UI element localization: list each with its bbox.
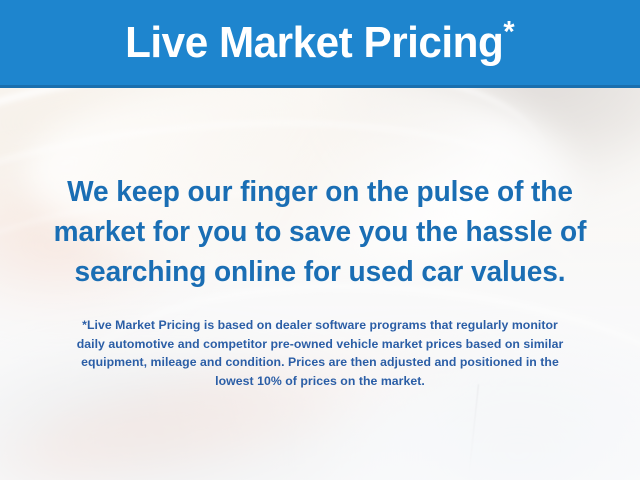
headline-text: We keep our finger on the pulse of the m…	[5, 172, 635, 292]
headline-line-3: searching online for used car values.	[5, 252, 635, 292]
page-title-asterisk: *	[504, 15, 515, 48]
live-market-pricing-banner: Live Market Pricing* We keep our finger …	[0, 0, 640, 480]
header-bar: Live Market Pricing*	[0, 0, 640, 88]
page-title-text: Live Market Pricing	[126, 18, 504, 67]
disclaimer-line-2: daily automotive and competitor pre-owne…	[29, 335, 611, 354]
page-title: Live Market Pricing*	[126, 21, 515, 65]
headline-line-2: market for you to save you the hassle of	[5, 212, 635, 252]
disclaimer-line-1: *Live Market Pricing is based on dealer …	[29, 316, 611, 335]
disclaimer-line-3: equipment, mileage and condition. Prices…	[29, 353, 611, 372]
disclaimer-text: *Live Market Pricing is based on dealer …	[29, 316, 611, 390]
headline-line-1: We keep our finger on the pulse of the	[5, 172, 635, 212]
disclaimer-line-4: lowest 10% of prices on the market.	[29, 372, 611, 391]
